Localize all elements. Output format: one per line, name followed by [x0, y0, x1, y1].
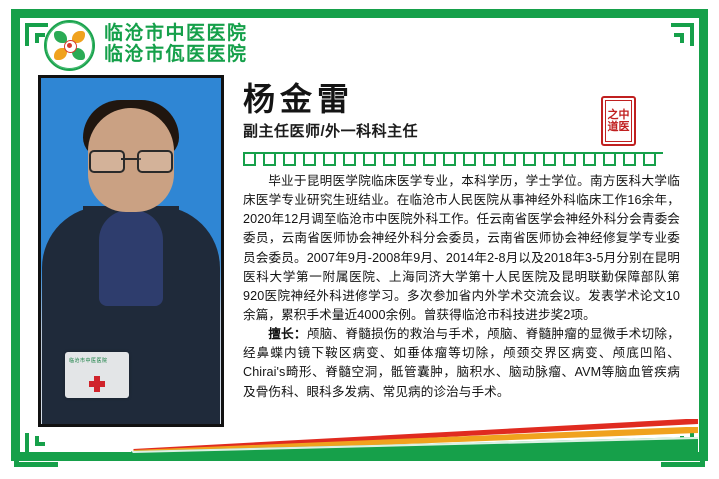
red-seal-icon: 中 医 之 道 — [601, 96, 636, 146]
doctor-profile-poster: 临沧市中医医院 临沧市佤医医院 临沧市中医医院 杨金雷 副主任医师/外一科科主任… — [0, 0, 719, 479]
institution-name-line2: 临沧市佤医医院 — [104, 45, 248, 66]
institution-header: 临沧市中医医院 临沧市佤医医院 — [44, 16, 248, 74]
doctor-identity: 杨金雷 副主任医师/外一科科主任 — [243, 82, 573, 141]
bio-paragraph-2: 擅长：颅脑、脊髓损伤的救治与手术，颅脑、脊髓肿瘤的显微手术切除，经鼻蝶内镜下鞍区… — [243, 325, 680, 402]
bio-specialty-label: 擅长： — [268, 327, 307, 341]
seal-char-4: 道 — [608, 121, 619, 133]
medical-cross-icon — [89, 376, 105, 392]
plaque-text: 临沧市中医医院 — [69, 357, 108, 364]
corner-ornament-top-right — [661, 12, 705, 56]
photo-hospital-plaque: 临沧市中医医院 — [65, 352, 129, 398]
eyeglasses-icon — [89, 150, 173, 170]
decorative-divider — [243, 152, 663, 166]
doctor-title: 副主任医师/外一科科主任 — [243, 123, 573, 141]
institution-name: 临沧市中医医院 临沧市佤医医院 — [104, 24, 248, 65]
doctor-biography: 毕业于昆明医学院临床医学专业，本科学历，学士学位。南方医科大学临床医学专业研究生… — [243, 172, 680, 402]
doctor-name: 杨金雷 — [243, 82, 573, 118]
seal-char-2: 医 — [619, 121, 630, 133]
bio-paragraph-1: 毕业于昆明医学院临床医学专业，本科学历，学士学位。南方医科大学临床医学专业研究生… — [243, 172, 680, 325]
hospital-emblem-icon — [44, 20, 95, 71]
bottom-ribbon-decoration — [21, 415, 698, 457]
doctor-photo: 临沧市中医医院 — [38, 75, 224, 427]
bio-specialty-text: 颅脑、脊髓损伤的救治与手术，颅脑、脊髓肿瘤的显微手术切除，经鼻蝶内镜下鞍区病变、… — [243, 327, 680, 398]
institution-name-line1: 临沧市中医医院 — [104, 24, 248, 45]
